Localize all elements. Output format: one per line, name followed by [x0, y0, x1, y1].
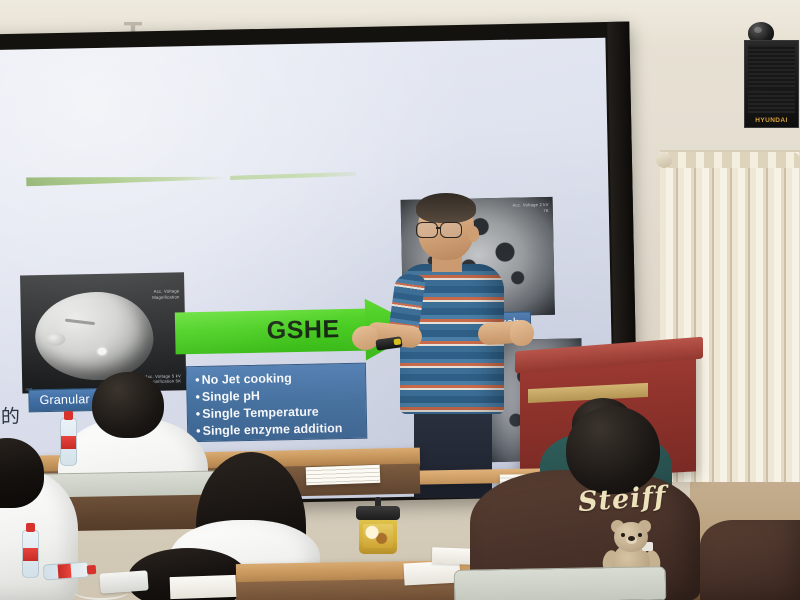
presenter-hand-right [510, 320, 534, 346]
bottle-label [58, 564, 72, 579]
bottle-label [23, 548, 38, 561]
bottle-cap-icon [64, 411, 73, 420]
water-bottle-lying [42, 561, 89, 580]
teddy-eye-right [638, 533, 642, 537]
presenter-hand-left [352, 326, 378, 350]
starch-granule-shape [34, 291, 154, 381]
slide-side-text-cn: 原的 [0, 402, 21, 430]
glasses-lens-right [440, 222, 462, 238]
speaker-brand-label: HYUNDAI [745, 117, 798, 124]
loose-papers [432, 547, 473, 564]
stacked-books [306, 465, 381, 486]
bullet-item: Single enzyme addition [196, 420, 360, 440]
slide-decorative-rule [26, 171, 336, 186]
student-white-shirt-head [92, 372, 164, 438]
coffee-cup [358, 506, 398, 558]
loose-papers [170, 575, 237, 599]
cup-sleeve-graphic [363, 524, 393, 548]
granular-starch-sem-image: Acc. Voltage Magnification Acc. Voltage … [20, 272, 186, 393]
presenter-hair [416, 193, 476, 223]
rule-segment-dark [26, 173, 226, 186]
eyeglasses-icon [416, 222, 464, 236]
bottle-cap-icon [87, 565, 97, 575]
teddy-nose [628, 536, 635, 541]
bottle-label [61, 436, 76, 449]
process-benefits-box: No Jet cooking Single pH Single Temperat… [186, 363, 367, 443]
speaker-grille-upper [748, 45, 795, 89]
rule-segment-light [230, 172, 356, 182]
laser-pointer-clicker-icon [375, 336, 402, 351]
lecture-hall-photo: HYUNDAI Acc. Voltage Magnification Acc. … [0, 0, 800, 600]
bullet-list: No Jet cooking Single pH Single Temperat… [195, 369, 360, 441]
student-brown-tshirt-head [566, 406, 660, 494]
tshirt-brand-text: Steiff [577, 481, 668, 518]
speaker-grille-lower [748, 91, 795, 113]
student-right-edge-partial [700, 520, 800, 600]
teddy-eye-left [621, 533, 625, 537]
cup-lid [356, 506, 400, 520]
chair-back-rest [454, 566, 667, 600]
presenter-ear [468, 226, 479, 242]
charging-cable [74, 584, 128, 600]
water-bottle [60, 418, 77, 466]
wall-speaker: HYUNDAI [744, 40, 799, 128]
glasses-lens-left [416, 222, 438, 238]
loose-papers [403, 561, 460, 586]
radiator-valve-icon [656, 152, 672, 168]
cup-sleeve [359, 520, 397, 554]
sem-annotation-top: Acc. Voltage Magnification [152, 288, 180, 300]
water-bottle [22, 530, 39, 578]
bottle-cap-icon [26, 523, 35, 532]
